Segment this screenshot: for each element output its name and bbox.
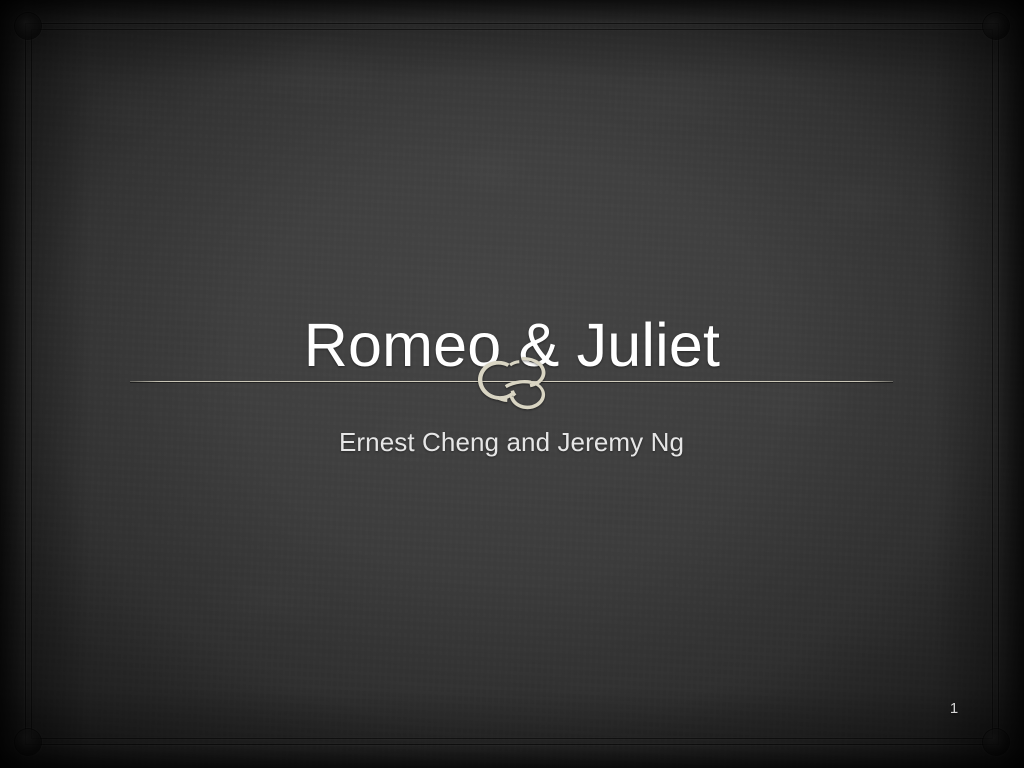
slide-number: 1 (934, 700, 974, 717)
presentation-slide: Romeo & Juliet (0, 0, 1024, 768)
slide-content: Romeo & Juliet (0, 0, 1024, 768)
slide-subtitle: Ernest Cheng and Jeremy Ng (130, 427, 893, 458)
cb-swash-ornament-icon (464, 349, 560, 413)
title-divider-group (130, 351, 893, 413)
